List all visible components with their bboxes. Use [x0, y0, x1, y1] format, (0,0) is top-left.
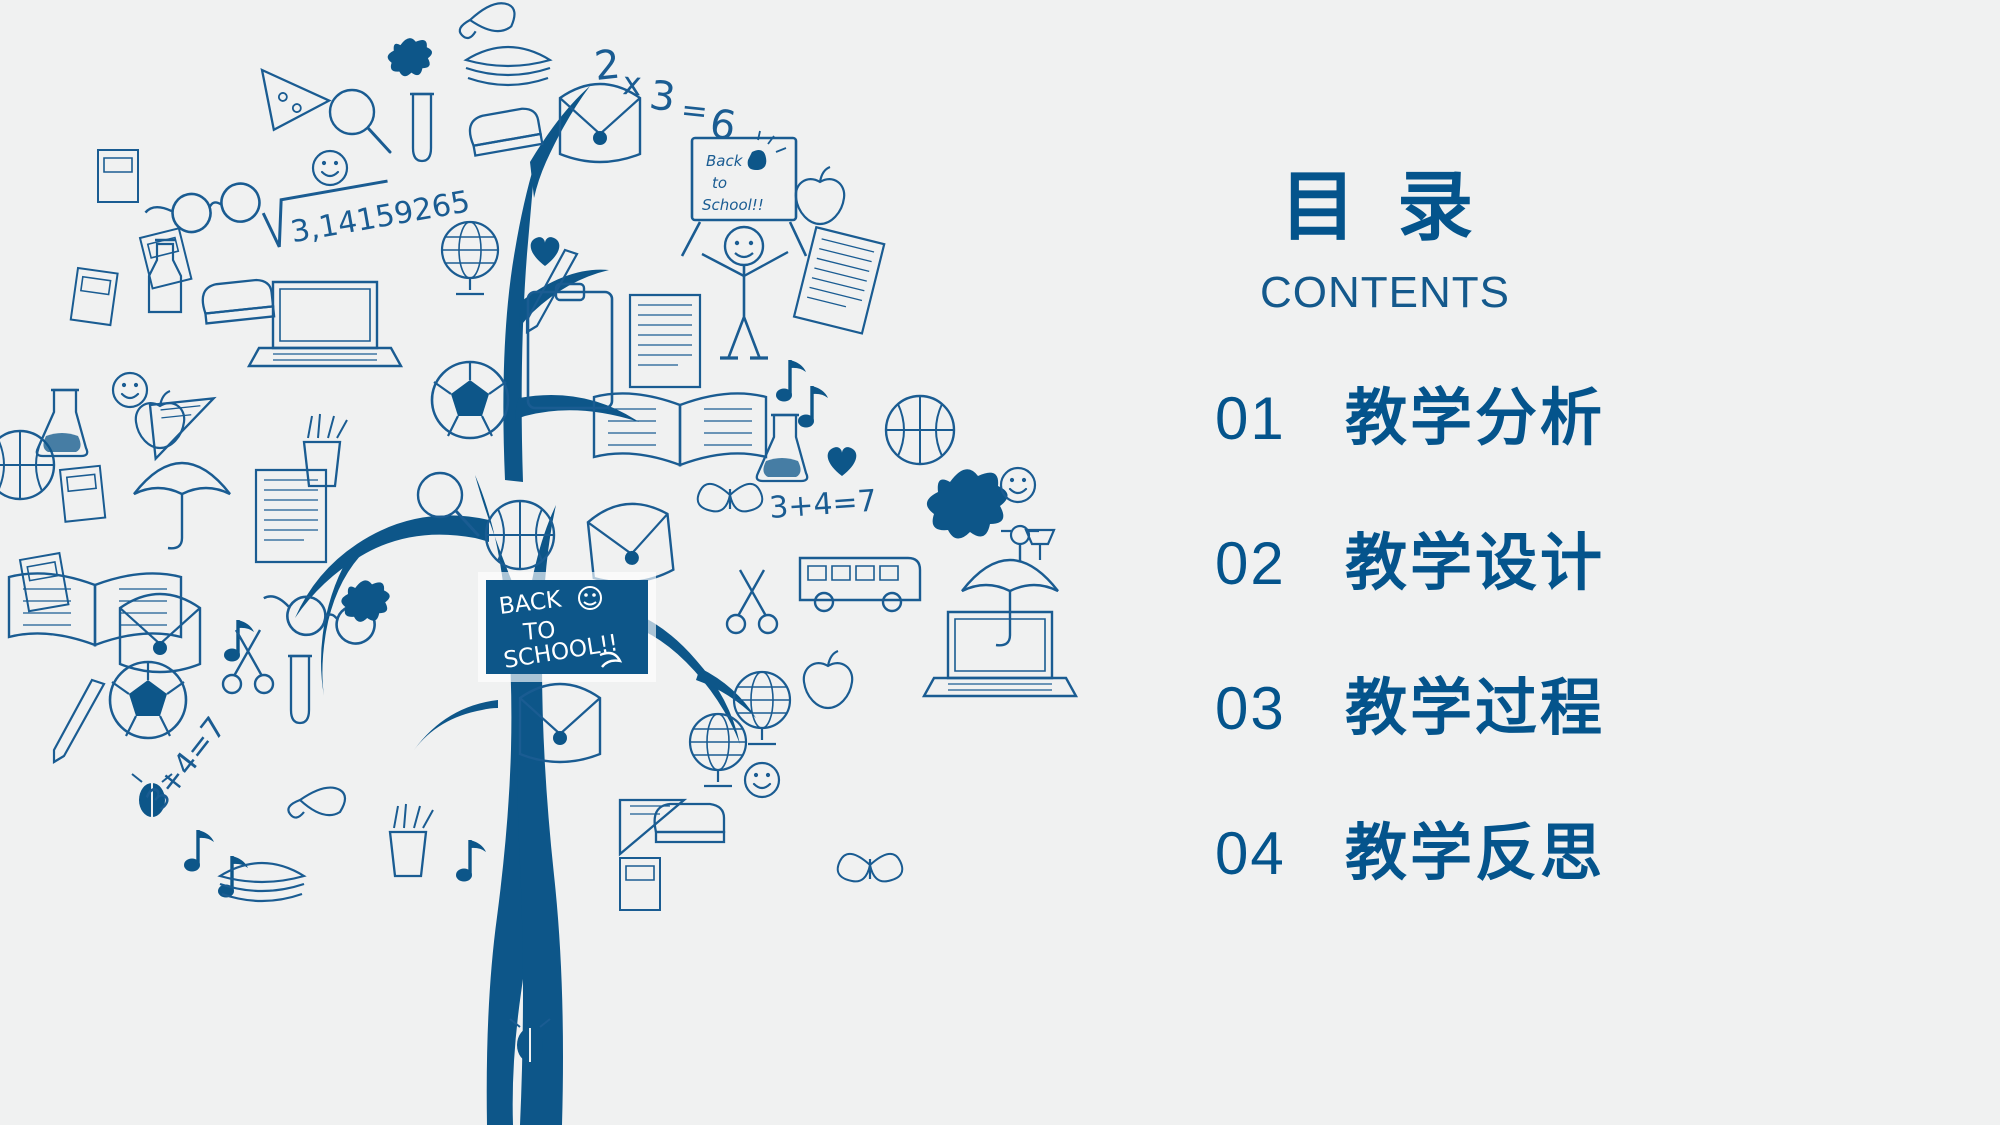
toc-label: 教学设计: [1345, 533, 1605, 595]
doodle-tree-illustration: BACK TO SCHOOL!! Back to School!!: [0, 0, 1110, 1125]
toc-label: 教学反思: [1345, 823, 1605, 885]
toc-list: 01 教学分析 02 教学设计 03 教学过程 04 教学反思: [1215, 388, 1955, 968]
toc-label: 教学过程: [1345, 678, 1605, 740]
svg-text:2: 2: [592, 42, 622, 90]
svg-text:3+4=7: 3+4=7: [768, 484, 878, 526]
toc-number: 04: [1215, 824, 1345, 884]
toc-item-01[interactable]: 01 教学分析: [1215, 388, 1955, 533]
svg-text:3+4=7: 3+4=7: [139, 711, 233, 817]
toc-item-04[interactable]: 04 教学反思: [1215, 823, 1955, 968]
toc-item-03[interactable]: 03 教学过程: [1215, 678, 1955, 823]
page-title-cn: 目 录: [1280, 170, 1483, 246]
chalkboard: BACK TO SCHOOL!!: [478, 572, 656, 682]
svg-text:School!!: School!!: [702, 196, 764, 214]
toc-number: 01: [1215, 389, 1345, 449]
toc-item-02[interactable]: 02 教学设计: [1215, 533, 1955, 678]
slide-root: BACK TO SCHOOL!! Back to School!!: [0, 0, 2000, 1125]
svg-text:3: 3: [647, 72, 679, 121]
svg-text:=: =: [679, 90, 710, 131]
page-title-en: CONTENTS: [1260, 268, 1515, 317]
svg-text:Back: Back: [706, 152, 744, 170]
toc-label: 教学分析: [1345, 388, 1605, 450]
svg-text:to: to: [712, 174, 727, 192]
toc-number: 02: [1215, 534, 1345, 594]
toc-number: 03: [1215, 679, 1345, 739]
contents-panel: 目 录 CONTENTS 01 教学分析 02 教学设计 03 教学过程 04 …: [1215, 170, 1955, 970]
svg-text:6: 6: [706, 101, 739, 151]
svg-text:x: x: [621, 64, 643, 103]
